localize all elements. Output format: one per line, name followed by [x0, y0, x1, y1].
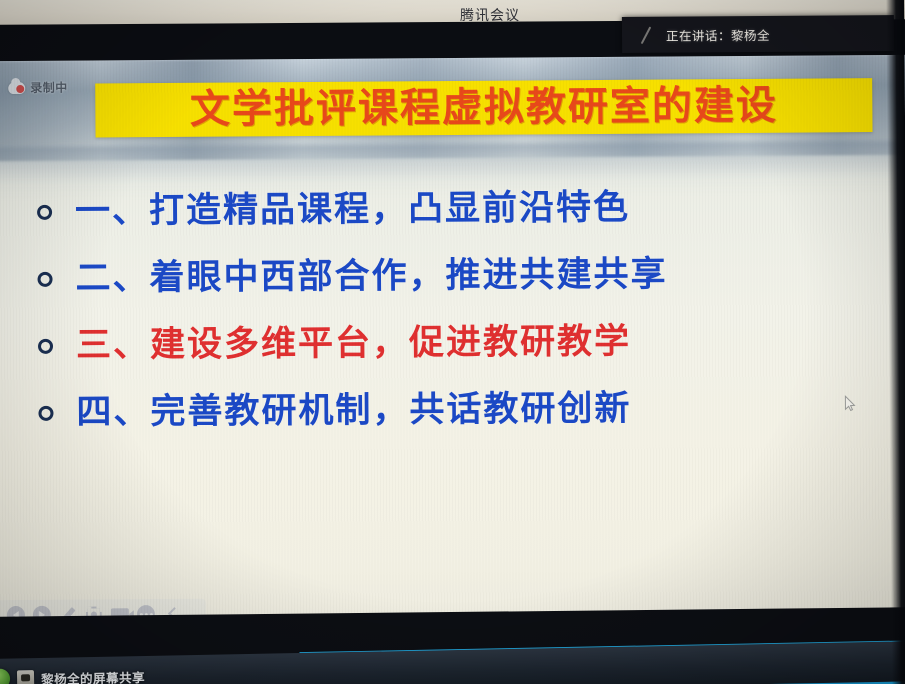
screen-share-app-icon[interactable]: [17, 670, 34, 684]
speaker-notice-label: 正在讲话：黎杨全: [666, 24, 770, 44]
taskbar-item-label[interactable]: 黎杨全的屏幕共享: [41, 666, 145, 684]
start-orb-icon[interactable]: [0, 669, 10, 684]
bullet-circle-icon: [38, 339, 76, 354]
slide-bullet-list: 一、打造精品课程，凸显前沿特色 二、着眼中西部合作，推进共建共享 三、建设多维平…: [37, 173, 869, 447]
list-item: 二、着眼中西部合作，推进共建共享: [37, 240, 867, 313]
recording-dot-icon: [16, 84, 24, 92]
bullet-circle-icon: [38, 272, 76, 287]
list-item-label: 四、完善教研机制，共话教研创新: [76, 391, 631, 432]
slide-title: 文学批评课程虚拟教研室的建设: [190, 86, 778, 130]
list-item: 三、建设多维平台，促进教研教学: [38, 307, 868, 380]
list-item-label: 一、打造精品课程，凸显前沿特色: [75, 190, 630, 231]
recording-cloud-icon: [8, 81, 25, 93]
slide-title-banner: 文学批评课程虚拟教研室的建设: [95, 78, 872, 137]
list-item: 一、打造精品课程，凸显前沿特色: [37, 173, 867, 246]
photographed-screen: 腾讯会议 正在讲话：黎杨全 录制中 文学批评课程虚拟教研室的建设 一、打造精品课…: [0, 0, 905, 684]
bullet-circle-icon: [38, 406, 76, 421]
slash-icon: [638, 27, 654, 43]
bullet-circle-icon: [37, 205, 75, 220]
list-item-label: 二、着眼中西部合作，推进共建共享: [75, 257, 667, 298]
mouse-pointer: [844, 395, 855, 411]
recording-badge: 录制中: [8, 79, 68, 96]
list-item-label: 三、建设多维平台，促进教研教学: [76, 324, 631, 365]
shared-slide: 录制中 文学批评课程虚拟教研室的建设 一、打造精品课程，凸显前沿特色 二、着眼中…: [0, 55, 905, 629]
recording-label: 录制中: [30, 79, 68, 96]
speaker-notice: 正在讲话：黎杨全: [622, 15, 894, 53]
list-item: 四、完善教研机制，共话教研创新: [38, 374, 868, 447]
